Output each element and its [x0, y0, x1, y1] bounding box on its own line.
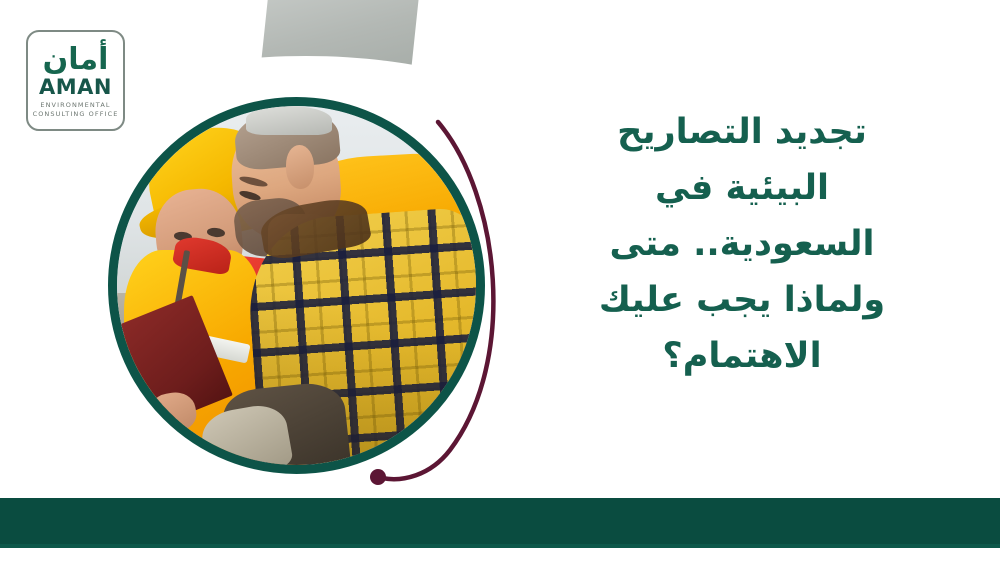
logo-arabic-name: أمان — [43, 44, 109, 76]
worker-photo-circle — [108, 97, 485, 474]
arc-end-dot — [370, 469, 386, 485]
headline-line-5: الاهتمام؟ — [542, 328, 942, 384]
poster-canvas: أمان AMAN ENVIRONMENTAL CONSULTING OFFIC… — [0, 0, 1000, 562]
logo-tagline-line-2: CONSULTING OFFICE — [33, 110, 119, 119]
headline-line-3: السعودية.. متى — [542, 216, 942, 272]
bottom-green-bar — [0, 498, 1000, 548]
worker-right-ear — [286, 145, 315, 188]
worker-photo — [117, 106, 476, 465]
headline: تجديد التصاريح البيئية في السعودية.. متى… — [542, 104, 942, 384]
logo-tagline-line-1: ENVIRONMENTAL — [40, 101, 110, 110]
bottom-bar-edge — [0, 544, 1000, 548]
logo-latin-name: AMAN — [39, 77, 112, 98]
headline-line-4: ولماذا يجب عليك — [542, 272, 942, 328]
brand-logo[interactable]: أمان AMAN ENVIRONMENTAL CONSULTING OFFIC… — [26, 30, 125, 131]
headline-line-1: تجديد التصاريح — [542, 104, 942, 160]
worker-right-cap — [246, 106, 332, 135]
headline-line-2: البيئية في — [542, 160, 942, 216]
